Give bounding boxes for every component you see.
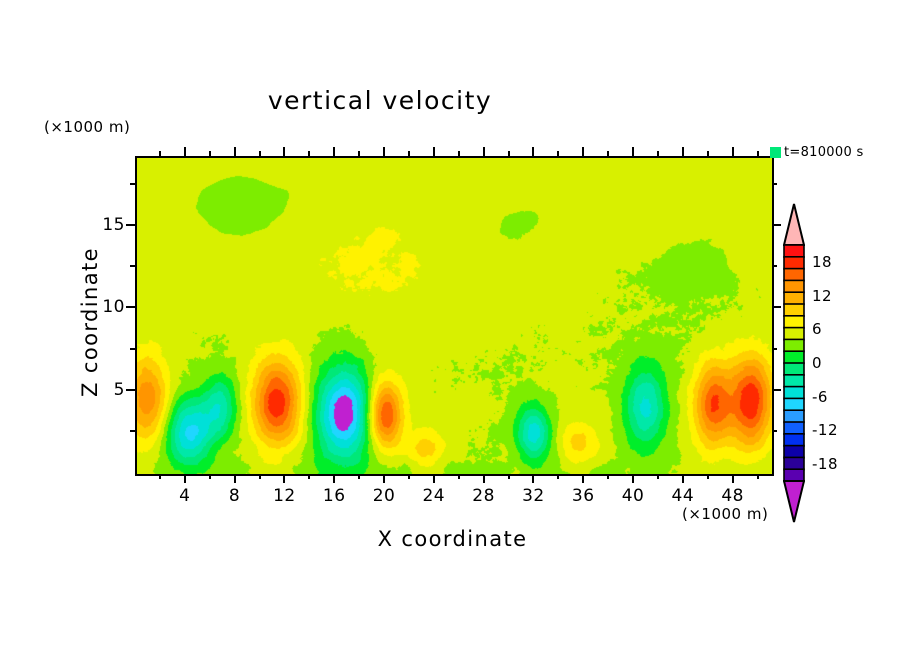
x-tick-minor-top (209, 151, 211, 156)
x-tick-major (383, 474, 385, 483)
x-tick-major (632, 474, 634, 483)
y-tick-minor-right (772, 348, 777, 350)
contour-plot-area (135, 156, 774, 476)
colorbar-tick-label: 6 (812, 320, 822, 338)
time-stamp: t=810000 s (784, 145, 864, 160)
x-tick-major-top (483, 147, 485, 156)
colorbar-tick-label: 0 (812, 354, 822, 372)
y-tick-label: 5 (83, 380, 125, 400)
x-tick-label: 28 (472, 486, 495, 506)
x-tick-major-top (732, 147, 734, 156)
x-tick-minor-top (308, 151, 310, 156)
x-tick-major (333, 474, 335, 483)
x-tick-label: 4 (179, 486, 190, 506)
x-tick-minor-top (508, 151, 510, 156)
x-tick-minor (209, 474, 211, 479)
x-tick-major-top (582, 147, 584, 156)
y-tick-minor (130, 430, 135, 432)
x-tick-minor (557, 474, 559, 479)
x-tick-minor-top (358, 151, 360, 156)
x-tick-label: 24 (422, 486, 445, 506)
y-tick-major (126, 389, 135, 391)
colorbar-tick-label: 18 (812, 253, 832, 271)
y-tick-minor (130, 183, 135, 185)
colorbar-tick-label: 12 (812, 287, 832, 305)
x-tick-minor-top (259, 151, 261, 156)
x-tick-major-top (333, 147, 335, 156)
y-tick-label: 15 (83, 215, 125, 235)
x-tick-minor-top (408, 151, 410, 156)
y-tick-label: 10 (83, 297, 125, 317)
x-tick-minor (159, 474, 161, 479)
colorbar-tick-label: -6 (812, 388, 828, 406)
x-tick-major-top (433, 147, 435, 156)
x-tick-minor-top (657, 151, 659, 156)
colorbar-tick-label: -18 (812, 455, 838, 473)
x-tick-label: 12 (273, 486, 296, 506)
x-tick-minor (657, 474, 659, 479)
x-tick-minor (757, 474, 759, 479)
x-tick-label: 16 (323, 486, 346, 506)
colorbar-tick-label: -12 (812, 421, 838, 439)
x-tick-label: 44 (672, 486, 695, 506)
x-tick-label: 20 (373, 486, 396, 506)
y-tick-major-right (772, 224, 781, 226)
x-tick-minor (408, 474, 410, 479)
x-axis-title: X coordinate (135, 527, 770, 551)
x-tick-minor (508, 474, 510, 479)
x-tick-major (283, 474, 285, 483)
y-tick-minor-right (772, 265, 777, 267)
y-tick-major-right (772, 389, 781, 391)
colorbar-gradient (783, 203, 805, 523)
x-tick-major (234, 474, 236, 483)
figure-root: vertical velocity (×1000 m) (×1000 m) Z … (0, 0, 904, 654)
x-tick-minor-top (607, 151, 609, 156)
page-title: vertical velocity (0, 86, 760, 115)
y-tick-minor-right (772, 430, 777, 432)
x-axis-unit-label: (×1000 m) (682, 505, 768, 523)
x-tick-minor (707, 474, 709, 479)
x-tick-label: 40 (622, 486, 645, 506)
y-tick-minor (130, 265, 135, 267)
x-tick-label: 36 (572, 486, 595, 506)
x-tick-major-top (632, 147, 634, 156)
x-tick-label: 48 (721, 486, 744, 506)
x-tick-minor-top (707, 151, 709, 156)
x-tick-major-top (682, 147, 684, 156)
x-tick-minor-top (557, 151, 559, 156)
x-tick-minor (308, 474, 310, 479)
x-tick-label: 32 (522, 486, 545, 506)
y-tick-major (126, 306, 135, 308)
x-tick-major-top (283, 147, 285, 156)
x-tick-major-top (184, 147, 186, 156)
x-tick-major (732, 474, 734, 483)
x-tick-minor (358, 474, 360, 479)
x-tick-minor-top (458, 151, 460, 156)
x-tick-major (184, 474, 186, 483)
x-tick-major (582, 474, 584, 483)
time-stamp-swatch (770, 147, 781, 158)
y-tick-major (126, 224, 135, 226)
z-axis-unit-label: (×1000 m) (44, 118, 130, 136)
x-tick-minor-top (757, 151, 759, 156)
x-tick-major (682, 474, 684, 483)
x-tick-major (483, 474, 485, 483)
x-tick-major-top (234, 147, 236, 156)
colorbar (783, 203, 805, 523)
vertical-velocity-field (137, 158, 772, 474)
x-tick-major-top (383, 147, 385, 156)
x-tick-minor-top (159, 151, 161, 156)
x-tick-label: 8 (229, 486, 240, 506)
x-tick-minor (607, 474, 609, 479)
x-tick-minor (259, 474, 261, 479)
y-tick-minor-right (772, 183, 777, 185)
x-tick-minor (458, 474, 460, 479)
y-tick-minor (130, 348, 135, 350)
x-tick-major-top (532, 147, 534, 156)
x-tick-major (532, 474, 534, 483)
y-tick-major-right (772, 306, 781, 308)
x-tick-major (433, 474, 435, 483)
